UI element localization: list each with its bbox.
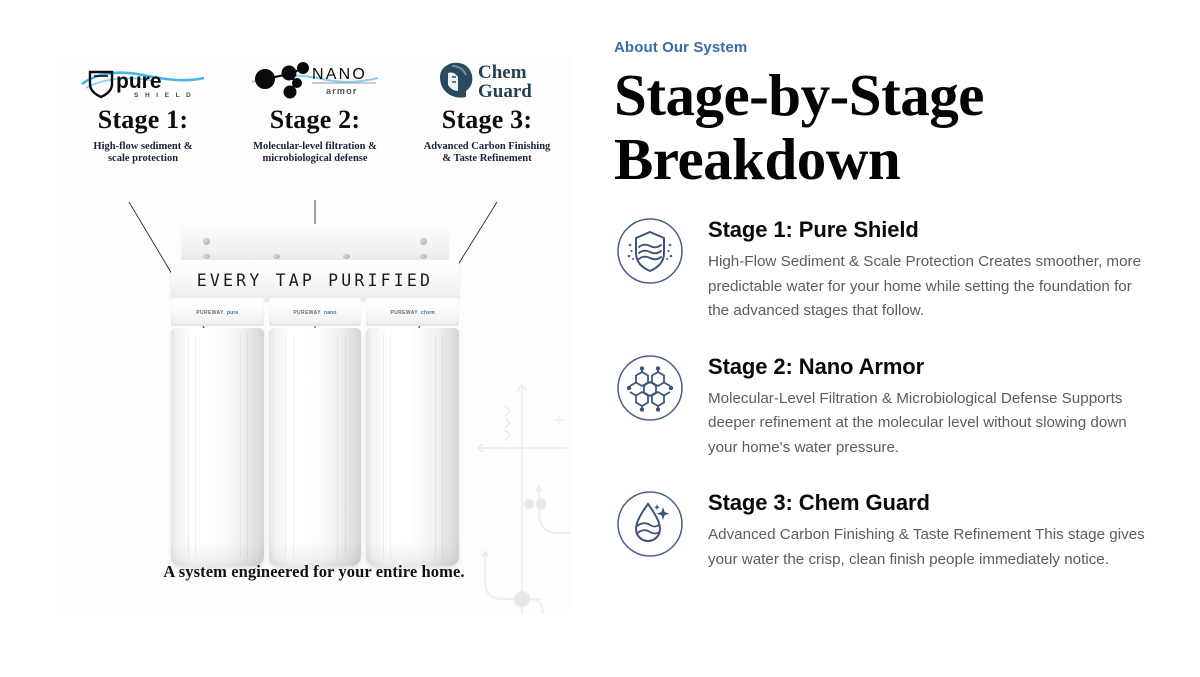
pure-shield-logo-primary: pure — [116, 70, 162, 93]
stage-list-item-3: Stage 3: Chem Guard Advanced Carbon Fini… — [614, 486, 1154, 572]
stage-text-3: Stage 3: Chem Guard Advanced Carbon Fini… — [708, 486, 1154, 572]
stage-name-3: Stage 3: Chem Guard — [708, 490, 1154, 516]
filter-canisters: PUREWAY pure PUREWAY nano — [171, 298, 459, 566]
screw-icon — [420, 254, 427, 259]
screw-icon — [420, 238, 427, 245]
pure-shield-logo-mark: pure S H I E L D — [78, 58, 208, 102]
canister-brand-3: PUREWAY — [390, 310, 418, 316]
canister-body-2 — [269, 328, 362, 566]
content-panel: About Our System Stage-by-Stage Breakdow… — [614, 0, 1174, 677]
molecular-lattice-icon — [614, 352, 686, 424]
chem-guard-logo-primary: Chem — [478, 62, 527, 83]
chem-guard-logo-mark: Chem Guard — [422, 57, 552, 103]
bracket-slogan: EVERY TAP PURIFIED — [197, 271, 433, 290]
canister-brand-2: PUREWAY — [293, 310, 321, 316]
stage-head-subtitle-3: Advanced Carbon Finishing & Taste Refine… — [401, 141, 571, 165]
filter-assembly: EVERY TAP PURIFIED PUREWAY pure — [165, 224, 465, 574]
screw-icon — [203, 254, 210, 259]
screw-icon — [273, 254, 280, 259]
screw-icon — [343, 254, 350, 259]
stage-list-item-2: Stage 2: Nano Armor Molecular-Level Filt… — [614, 350, 1154, 461]
stage-name-2: Stage 2: Nano Armor — [708, 354, 1154, 380]
stage-heads-row: pure S H I E L D Stage 1: High-flow sedi… — [57, 56, 571, 201]
stage-description-2: Molecular-Level Filtration & Microbiolog… — [708, 387, 1154, 461]
stage-head-subtitle-2: Molecular-level filtration & microbiolog… — [229, 141, 401, 165]
canister-mark-1: pure — [227, 310, 239, 316]
nano-armor-logo: NANO armor — [229, 56, 401, 104]
water-droplet-sparkle-icon — [614, 488, 686, 560]
mounting-bracket-top — [181, 224, 449, 264]
stage-head-3: Chem Guard Stage 3: Advanced Carbon Fini… — [401, 56, 571, 165]
filter-canister-2: PUREWAY nano — [269, 298, 362, 566]
stage-list-item-1: Stage 1: Pure Shield High-Flow Sediment … — [614, 213, 1154, 324]
stage-description-1: High-Flow Sediment & Scale Protection Cr… — [708, 250, 1154, 324]
canister-body-1 — [171, 328, 264, 566]
stage-name-1: Stage 1: Pure Shield — [708, 217, 1154, 243]
stage-head-title-2: Stage 2: — [229, 106, 401, 135]
nano-armor-logo-primary: NANO — [312, 66, 367, 83]
screw-icon — [203, 238, 210, 245]
stage-head-subtitle-1: High-flow sediment & scale protection — [57, 141, 229, 165]
canister-cap-3: PUREWAY chem — [366, 298, 459, 326]
nano-armor-logo-secondary: armor — [326, 86, 358, 96]
product-diagram-panel: pure S H I E L D Stage 1: High-flow sedi… — [57, 56, 571, 614]
page-root: pure S H I E L D Stage 1: High-flow sedi… — [0, 0, 1200, 677]
canister-cap-1: PUREWAY pure — [171, 298, 264, 326]
pure-shield-logo-secondary: S H I E L D — [134, 92, 193, 99]
stage-head-title-3: Stage 3: — [401, 106, 571, 135]
chem-guard-logo: Chem Guard — [401, 56, 571, 104]
stage-head-1: pure S H I E L D Stage 1: High-flow sedi… — [57, 56, 229, 165]
stage-text-1: Stage 1: Pure Shield High-Flow Sediment … — [708, 213, 1154, 324]
stage-description-3: Advanced Carbon Finishing & Taste Refine… — [708, 523, 1154, 572]
stage-text-2: Stage 2: Nano Armor Molecular-Level Filt… — [708, 350, 1154, 461]
stage-head-title-1: Stage 1: — [57, 106, 229, 135]
filter-canister-3: PUREWAY chem — [366, 298, 459, 566]
canister-mark-2: nano — [324, 310, 337, 316]
pure-shield-logo: pure S H I E L D — [57, 56, 229, 104]
chem-guard-logo-secondary: Guard — [478, 81, 532, 102]
bracket-front-plate: EVERY TAP PURIFIED — [171, 260, 459, 300]
canister-brand-1: PUREWAY — [196, 310, 224, 316]
section-eyebrow: About Our System — [614, 39, 747, 56]
canister-mark-3: chem — [421, 310, 435, 316]
page-title: Stage-by-Stage Breakdown — [614, 63, 1134, 191]
filter-canister-1: PUREWAY pure — [171, 298, 264, 566]
canister-body-3 — [366, 328, 459, 566]
canister-cap-2: PUREWAY nano — [269, 298, 362, 326]
shield-waves-icon — [614, 215, 686, 287]
stage-list: Stage 1: Pure Shield High-Flow Sediment … — [614, 213, 1154, 572]
stage-head-2: NANO armor Stage 2: Molecular-level filt… — [229, 56, 401, 165]
diagram-caption: A system engineered for your entire home… — [57, 562, 571, 582]
nano-armor-logo-mark: NANO armor — [250, 58, 380, 102]
